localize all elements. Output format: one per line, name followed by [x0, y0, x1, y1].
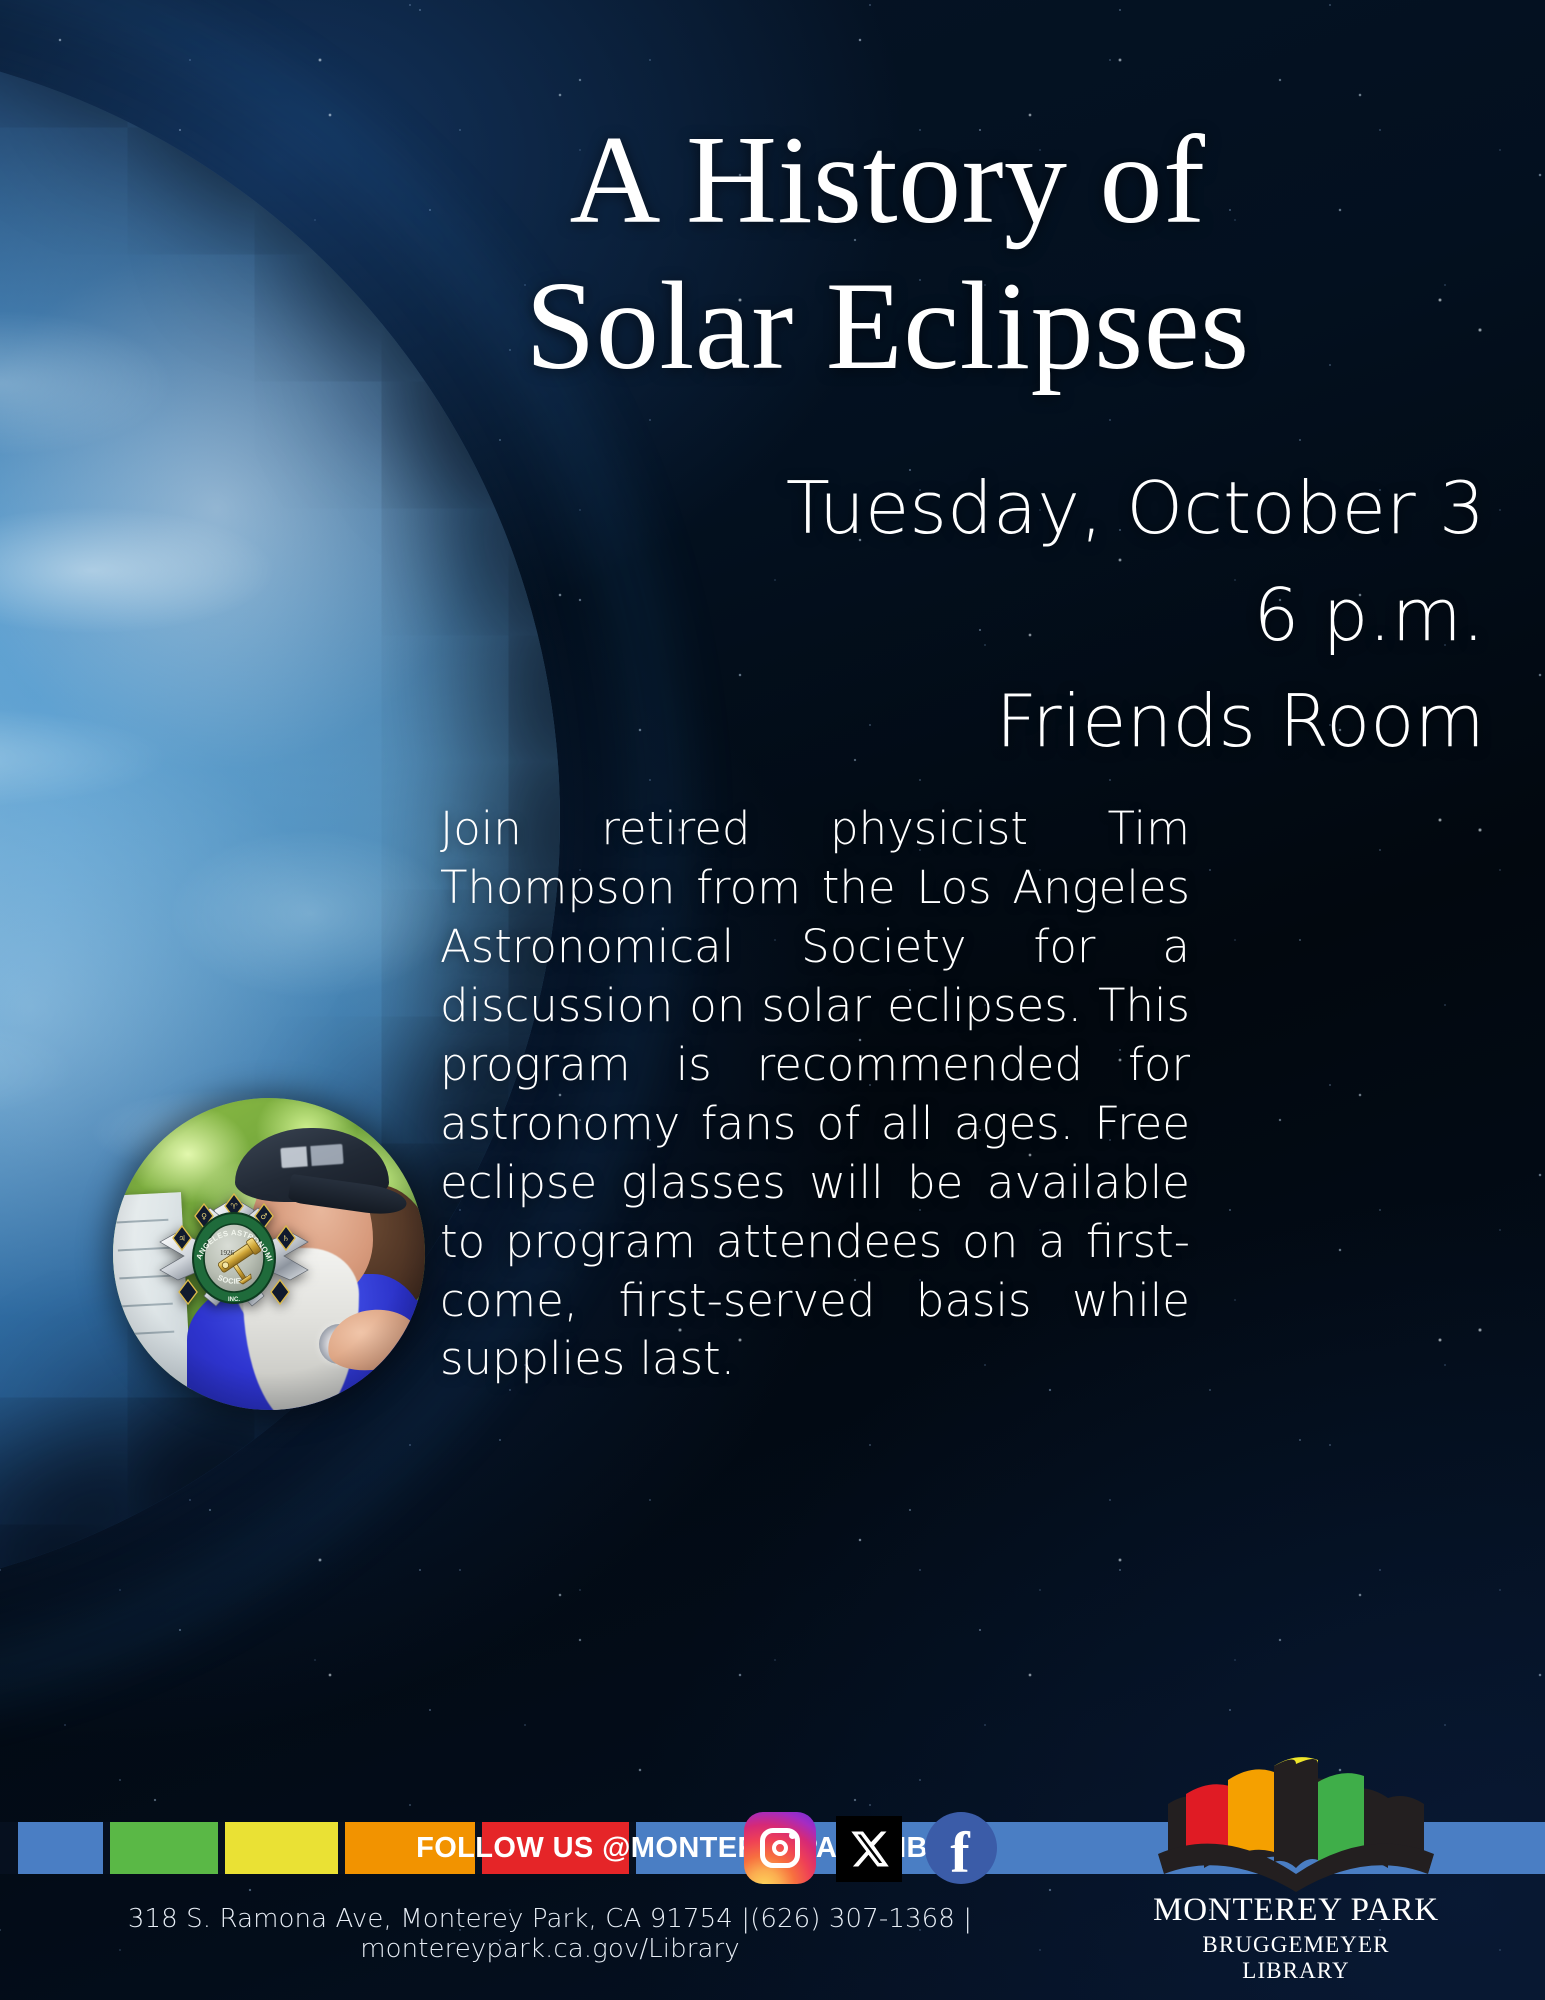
poster-title: A History of Solar Eclipses: [300, 108, 1475, 400]
title-line-1: A History of: [570, 111, 1206, 250]
svg-text:♈: ♈: [230, 1202, 237, 1211]
swatch-gap-2: [218, 1822, 225, 1874]
instagram-icon[interactable]: [744, 1812, 816, 1884]
laas-seal-logo: ♈♀♂ ♃♄ LOS ANGELES ASTRONOMICAL SOCIETY: [138, 1188, 330, 1318]
swatch-gap-3: [338, 1822, 345, 1874]
title-line-2: Solar Eclipses: [300, 254, 1475, 400]
svg-text:♂: ♂: [260, 1212, 267, 1221]
svg-text:♃: ♃: [178, 1234, 185, 1243]
library-name-secondary: BRUGGEMEYER LIBRARY: [1146, 1932, 1446, 1984]
svg-text:♄: ♄: [282, 1234, 289, 1243]
swatch-gap-1: [103, 1822, 110, 1874]
laas-inc: INC.: [228, 1297, 240, 1303]
library-name-primary: MONTEREY PARK: [1146, 1892, 1446, 1929]
event-date: Tuesday, October 3: [745, 455, 1485, 562]
swatch-gap-left: [0, 1822, 18, 1874]
laas-year: 1926: [220, 1249, 235, 1257]
instagram-lens: [772, 1840, 788, 1856]
event-location: Friends Room: [745, 668, 1485, 775]
instagram-dot: [789, 1832, 796, 1839]
facebook-icon[interactable]: f: [925, 1812, 997, 1884]
event-details: Tuesday, October 3 6 p.m. Friends Room: [745, 455, 1485, 775]
event-time: 6 p.m.: [745, 562, 1485, 669]
open-book-icon: [1146, 1742, 1446, 1892]
facebook-glyph: f: [950, 1824, 969, 1882]
color-swatch-green: [110, 1822, 218, 1874]
x-glyph: [848, 1828, 890, 1870]
event-description: Join retired physicist Tim Thompson from…: [440, 800, 1190, 1389]
library-logo: MONTEREY PARK BRUGGEMEYER LIBRARY: [1146, 1742, 1446, 1972]
color-swatch-blue: [18, 1822, 103, 1874]
svg-text:♀: ♀: [201, 1212, 207, 1221]
x-twitter-icon[interactable]: [836, 1816, 902, 1882]
color-swatch-yellow: [225, 1822, 338, 1874]
event-poster: A History of Solar Eclipses Tuesday, Oct…: [0, 0, 1545, 2000]
library-address-line: 318 S. Ramona Ave, Monterey Park, CA 917…: [0, 1904, 1100, 1964]
instagram-glyph: [760, 1828, 800, 1868]
laas-seal-svg: ♈♀♂ ♃♄ LOS ANGELES ASTRONOMICAL SOCIETY: [138, 1188, 330, 1318]
